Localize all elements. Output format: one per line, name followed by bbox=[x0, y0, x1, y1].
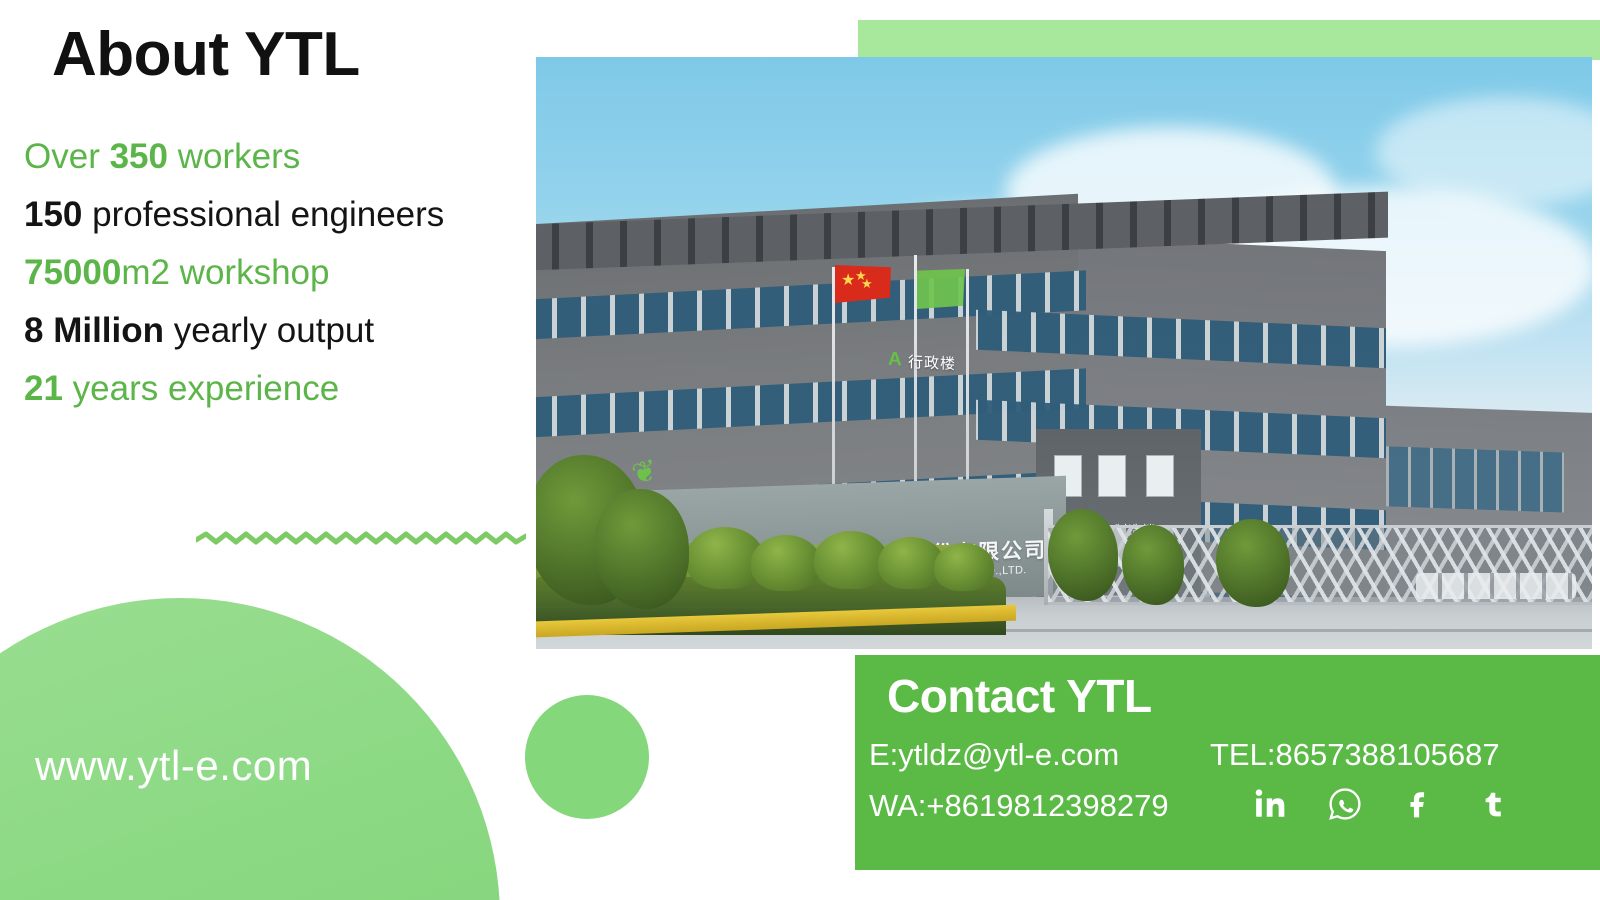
bush bbox=[934, 543, 994, 591]
website-url[interactable]: www.ytl-e.com bbox=[35, 742, 312, 790]
contact-telephone[interactable]: TEL:8657388105687 bbox=[1210, 737, 1500, 773]
small-green-circle-decoration bbox=[525, 695, 649, 819]
stat-suffix: workers bbox=[168, 137, 300, 176]
stat-item-workshop: 75000m2 workshop bbox=[24, 244, 524, 302]
parked-vehicles bbox=[1416, 573, 1576, 599]
zigzag-divider-icon bbox=[196, 524, 526, 548]
stat-item-yearly-output: 8 Million yearly output bbox=[24, 302, 524, 360]
social-links bbox=[1250, 781, 1514, 827]
contact-panel: Contact YTL E:ytldz@ytl-e.com TEL:865738… bbox=[855, 655, 1600, 870]
stat-number: 150 bbox=[24, 195, 82, 234]
stat-suffix: m2 workshop bbox=[121, 253, 329, 292]
bush bbox=[751, 535, 821, 591]
factory-photo: B 制造楼 ★ ★ ★ YTL ❦ A 行政楼 YTL 浙江永泰隆电子股份有限公… bbox=[536, 57, 1592, 649]
bush bbox=[814, 531, 888, 589]
building-a-marker: A bbox=[888, 349, 902, 372]
facebook-icon[interactable] bbox=[1398, 781, 1440, 827]
stat-suffix: years experience bbox=[63, 369, 339, 408]
tree bbox=[1216, 519, 1290, 607]
company-flag-icon bbox=[917, 269, 965, 309]
page-title: About YTL bbox=[52, 24, 360, 86]
contact-title: Contact YTL bbox=[887, 669, 1152, 723]
contact-email[interactable]: E:ytldz@ytl-e.com bbox=[869, 737, 1119, 773]
stat-suffix: professional engineers bbox=[82, 195, 444, 234]
stat-number: 75000 bbox=[24, 253, 121, 292]
window bbox=[1098, 455, 1126, 497]
window bbox=[1146, 455, 1174, 497]
stat-item-workers: Over 350 workers bbox=[24, 128, 524, 186]
stat-number: 350 bbox=[110, 137, 168, 176]
whatsapp-icon[interactable] bbox=[1324, 781, 1366, 827]
contact-whatsapp-number[interactable]: WA:+8619812398279 bbox=[869, 788, 1169, 824]
linkedin-icon[interactable] bbox=[1250, 781, 1292, 827]
tree bbox=[1048, 509, 1118, 601]
china-flag-icon: ★ ★ ★ bbox=[835, 265, 891, 303]
top-green-accent-bar bbox=[858, 20, 1600, 60]
tumblr-icon[interactable] bbox=[1472, 781, 1514, 827]
stat-number: 21 bbox=[24, 369, 63, 408]
building-a-label: 行政楼 bbox=[908, 351, 956, 374]
about-ytl-banner: About YTL Over 350 workers 150 professio… bbox=[0, 0, 1600, 900]
stat-item-engineers: 150 professional engineers bbox=[24, 186, 524, 244]
stat-suffix: yearly output bbox=[164, 311, 374, 350]
tree bbox=[1122, 525, 1184, 605]
company-stats-list: Over 350 workers 150 professional engine… bbox=[24, 128, 524, 418]
stat-number: 8 Million bbox=[24, 311, 164, 350]
stat-prefix: Over bbox=[24, 137, 110, 176]
right-building-windows bbox=[1364, 446, 1564, 513]
stat-item-experience: 21 years experience bbox=[24, 360, 524, 418]
